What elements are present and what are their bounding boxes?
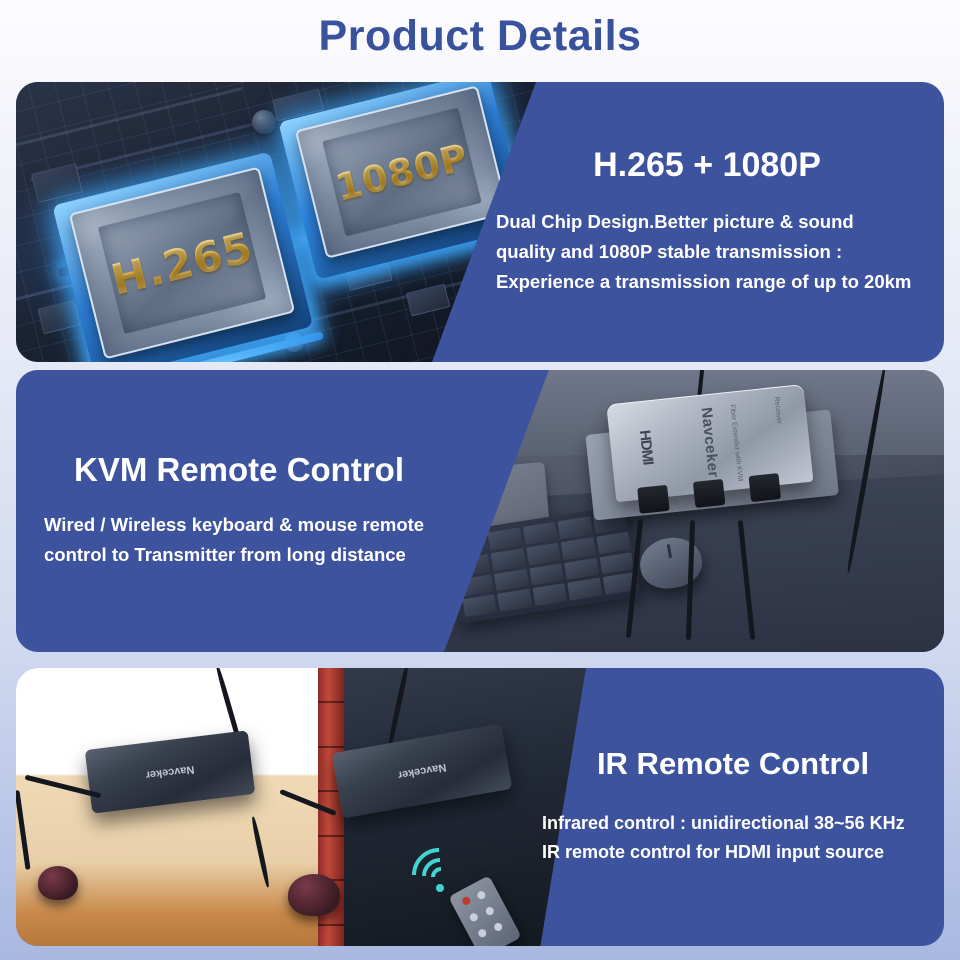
device-role-label: Receiver: [773, 396, 783, 424]
feature-description-ir-remote-control: Infrared control : unidirectional 38~56 …: [542, 809, 924, 867]
ir-emitter-bulb: [288, 874, 340, 916]
ir-receiver-brand-label: Navceker: [397, 761, 447, 781]
feature-title-ir-remote-control: IR Remote Control: [542, 747, 924, 781]
feature-panel-ir-remote-control: Navceker Navceker: [16, 668, 944, 946]
device-port-1: [637, 485, 670, 514]
page-header: Product Details: [0, 0, 960, 72]
device-port-2: [693, 479, 726, 508]
feature-panel-kvm-remote-control: KVM Remote Control Wired / Wireless keyb…: [16, 370, 944, 652]
ir-transmitter-brand-label: Navceker: [145, 763, 195, 781]
feature-text-h265-1080p: H.265 + 1080P Dual Chip Design.Better pi…: [474, 82, 944, 362]
feature-text-ir-remote-control: IR Remote Control Infrared control : uni…: [524, 668, 944, 946]
page-title: Product Details: [319, 15, 642, 58]
kvm-receiver-device: HDMI Navceker Fiber Extender with KVM Re…: [606, 384, 815, 524]
device-brand-label: Navceker: [698, 407, 722, 479]
feature-description-kvm-remote-control: Wired / Wireless keyboard & mouse remote…: [44, 510, 462, 570]
circuit-board-graphic: 1080P H.265: [16, 82, 536, 362]
device-port-3: [749, 473, 782, 502]
device-hdmi-label: HDMI: [636, 429, 656, 465]
wood-desk-area: [16, 668, 335, 946]
feature-panel-h265-1080p: 1080P H.265 H.265 + 1080P Dual Chip Desi…: [16, 82, 944, 362]
feature-text-kvm-remote-control: KVM Remote Control Wired / Wireless keyb…: [16, 370, 486, 652]
feature-title-kvm-remote-control: KVM Remote Control: [44, 452, 462, 488]
circuit-board-dual-chip-photo: 1080P H.265: [16, 82, 536, 362]
ir-scene-graphic: Navceker Navceker: [16, 668, 586, 946]
feature-title-h265-1080p: H.265 + 1080P: [496, 147, 918, 184]
feature-description-h265-1080p: Dual Chip Design.Better picture & sound …: [496, 207, 918, 297]
chip-h265: H.265: [69, 167, 295, 360]
desk-kvm-receiver-photo: HDMI Navceker Fiber Extender with KVM Re…: [444, 370, 944, 652]
device-subtitle-label: Fiber Extender with KVM: [728, 404, 743, 482]
desk-scene-graphic: HDMI Navceker Fiber Extender with KVM Re…: [444, 370, 944, 652]
ir-emitter-receiver-photo: Navceker Navceker: [16, 668, 586, 946]
ir-receiver-bulb-left: [38, 866, 78, 900]
device-body: HDMI Navceker Fiber Extender with KVM Re…: [606, 384, 813, 502]
